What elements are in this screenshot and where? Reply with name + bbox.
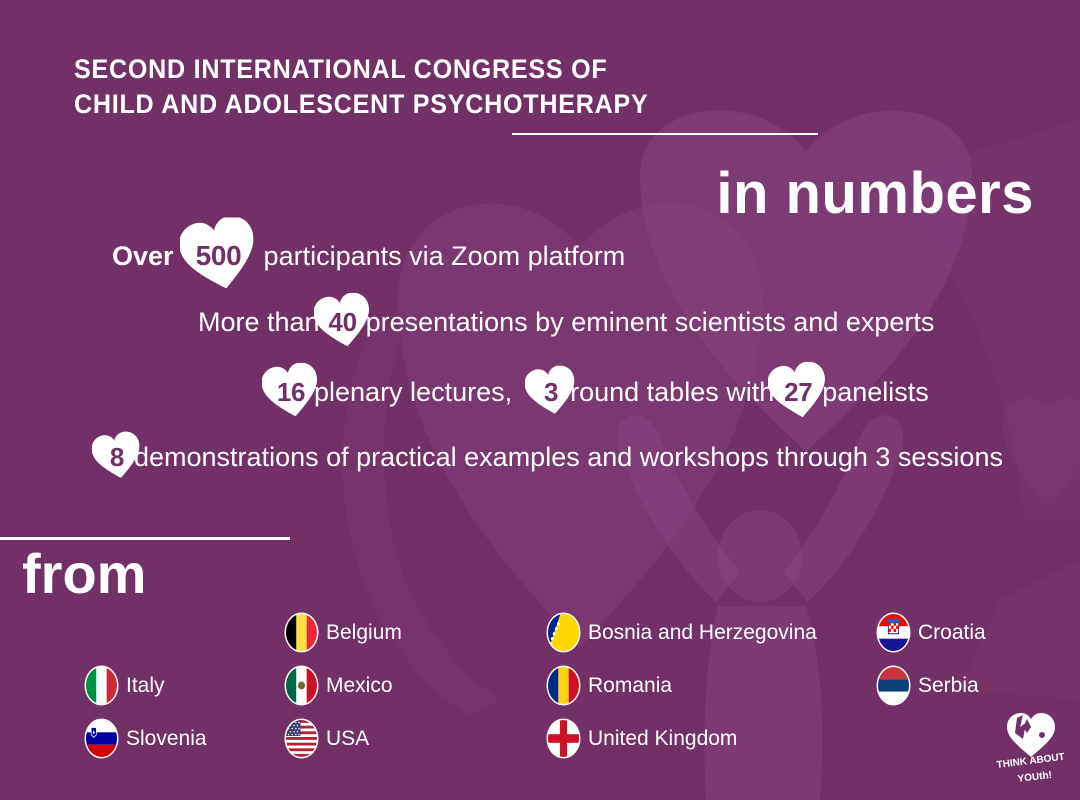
country-label: United Kingdom [588,727,737,751]
country-label: Bosnia and Herzegovina [588,621,817,645]
stat-number: 500 [196,243,242,269]
logo-line-2: YOUth! [1017,770,1053,785]
heart-badge: 3 [532,364,570,420]
country-label: Croatia [918,621,986,645]
stat-suffix: demonstrations of practical examples and… [134,441,1003,473]
in-numbers-heading: in numbers [716,162,1034,226]
list-item: United Kingdom [548,720,878,757]
country-label: Belgium [326,621,402,645]
from-divider [0,537,290,540]
from-heading: from [22,542,146,606]
romania-flag-icon [548,667,579,704]
heart-badge: 27 [774,364,822,420]
stat-number: 40 [328,309,356,335]
heart-with-figure-icon: THINK ABOUT YOUth! [993,705,1071,785]
heart-badge: 500 [188,225,250,287]
country-label: Slovenia [126,727,207,751]
stat-prefix: Over [112,240,174,272]
stat-row: 8 demonstrations of practical examples a… [100,430,1003,484]
stat-row: 16 plenary lectures, 3 round tables with… [268,364,929,420]
title-line-1: SECOND INTERNATIONAL CONGRESS OF [74,52,648,87]
list-item: Romania [548,667,878,704]
poster-content: SECOND INTERNATIONAL CONGRESS OF CHILD A… [0,0,1080,800]
croatia-flag-icon [878,614,909,651]
belgium-flag-icon [286,614,317,651]
heart-badge: 16 [268,364,314,420]
country-list: Belgium Bosnia and Herzegovina [86,606,1066,765]
stat-suffix: participants via Zoom platform [264,240,626,272]
country-label: USA [326,727,369,751]
heart-badge: 40 [320,294,366,350]
list-item: Mexico [286,667,548,704]
united-kingdom-flag-icon [548,720,579,757]
stat-prefix: More than [198,306,320,338]
slovenia-flag-icon [86,720,117,757]
country-label: Serbia [918,674,979,698]
italy-flag-icon [86,667,117,704]
heart-badge: 8 [100,430,134,484]
country-label: Romania [588,674,672,698]
stat-suffix: plenary lectures, [314,376,512,408]
mexico-flag-icon [286,667,317,704]
country-label: Mexico [326,674,393,698]
stat-row: Over 500 participants via Zoom platform [112,225,625,287]
page-title: SECOND INTERNATIONAL CONGRESS OF CHILD A… [74,52,692,122]
list-item: USA [286,720,548,757]
title-divider [512,133,818,135]
think-about-youth-logo: THINK ABOUT YOUth! [993,705,1071,785]
list-item: Serbia [878,667,1066,704]
list-item: Italy [86,667,286,704]
list-item: Slovenia [86,720,286,757]
stat-suffix: round tables with [570,376,774,408]
stat-number: 27 [784,379,812,405]
stat-number: 16 [277,379,305,405]
list-item: Croatia [878,614,1066,651]
country-label: Italy [126,674,165,698]
list-item: Belgium [286,614,548,651]
stat-suffix: presentations by eminent scientists and … [366,306,935,338]
title-line-2: CHILD AND ADOLESCENT PSYCHOTHERAPY [74,87,648,122]
list-item: Bosnia and Herzegovina [548,614,878,651]
serbia-flag-icon [878,667,909,704]
stat-number: 3 [544,379,558,405]
stat-number: 8 [110,444,124,470]
stat-row: More than 40 presentations by eminent sc… [198,294,934,350]
usa-flag-icon [286,720,317,757]
stat-suffix: panelists [822,376,929,408]
bosnia-and-herzegovina-flag-icon [548,614,579,651]
